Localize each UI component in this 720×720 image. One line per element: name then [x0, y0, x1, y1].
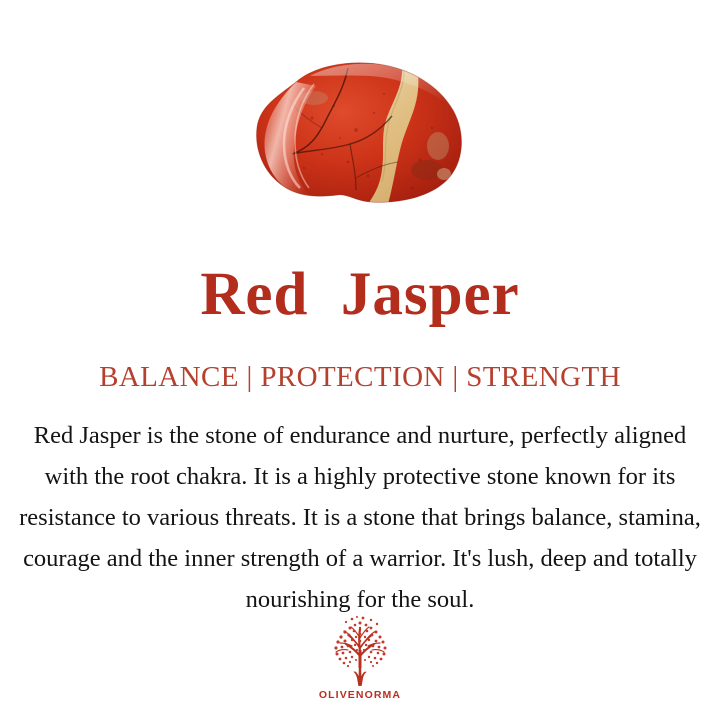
- red-jasper-stone-illustration: [252, 58, 468, 216]
- product-image: [0, 52, 720, 222]
- brand-name: OLIVENORMA: [319, 689, 401, 701]
- page-title: Red Jasper: [0, 262, 720, 328]
- product-description: Red Jasper is the stone of endurance and…: [14, 415, 706, 620]
- product-attributes: BALANCE | PROTECTION | STRENGTH: [0, 360, 720, 394]
- tree-of-life-icon: [322, 616, 398, 688]
- brand-logo: OLIVENORMA: [0, 616, 720, 701]
- product-card: Red Jasper BALANCE | PROTECTION | STRENG…: [0, 0, 720, 720]
